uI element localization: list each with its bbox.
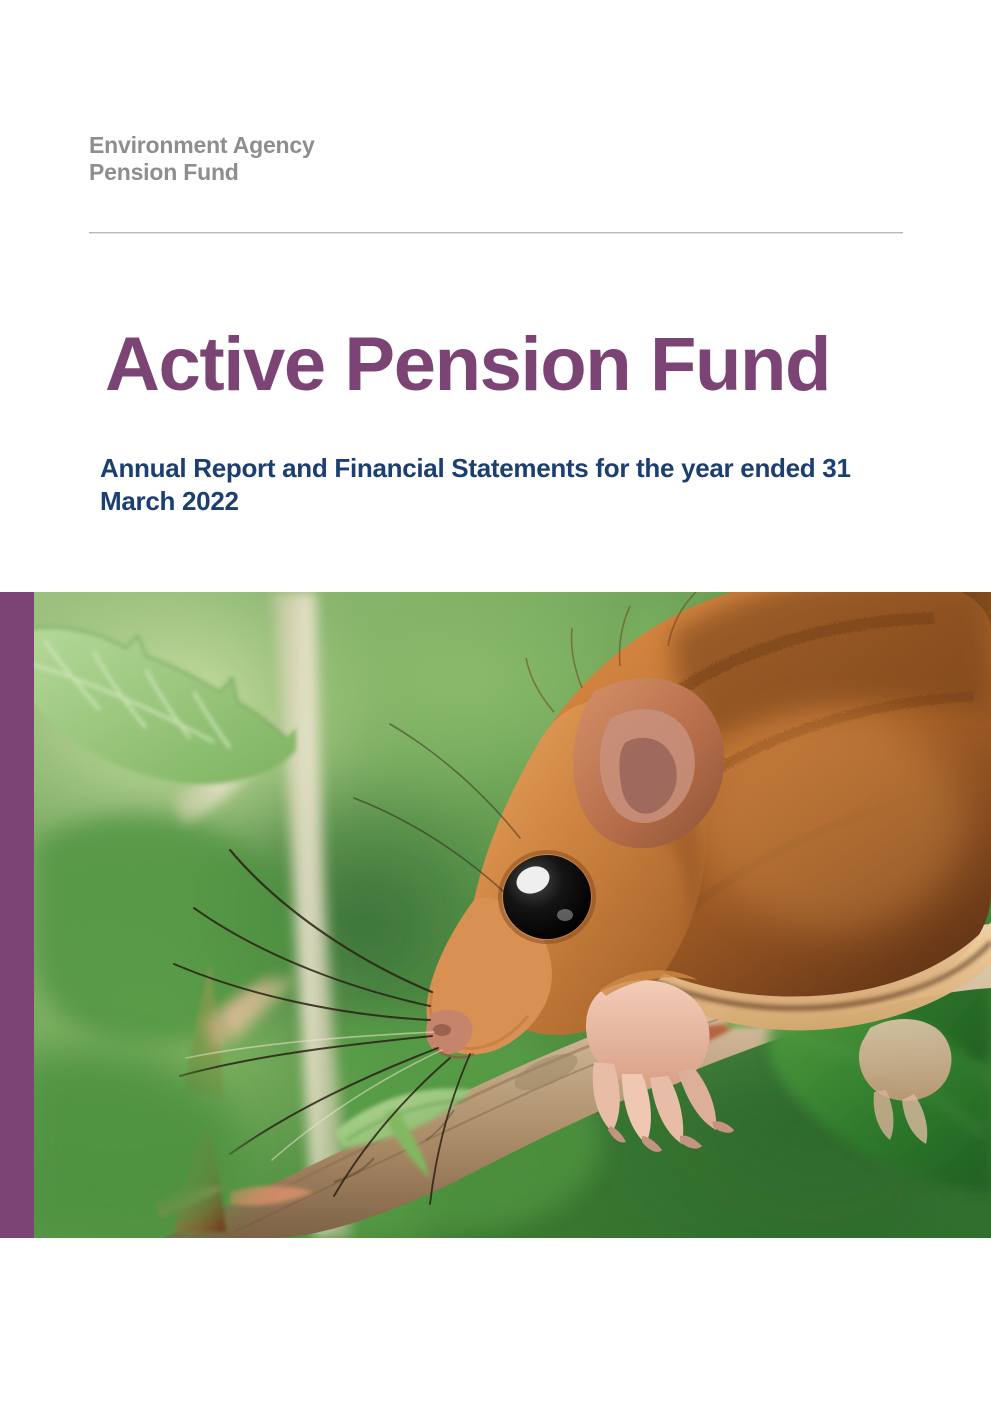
- cover-image-band: [0, 592, 991, 1238]
- cover-page: Environment Agency Pension Fund Active P…: [0, 0, 991, 1401]
- page-subtitle: Annual Report and Financial Statements f…: [100, 452, 890, 518]
- organisation-name-line-2: Pension Fund: [89, 159, 569, 186]
- page-title: Active Pension Fund: [105, 322, 830, 408]
- organisation-logo: Environment Agency Pension Fund: [89, 132, 569, 186]
- header-divider: [89, 232, 903, 234]
- dormouse-photo-illustration: [34, 592, 991, 1238]
- brand-accent-bar: [0, 592, 34, 1238]
- organisation-name-line-1: Environment Agency: [89, 132, 569, 159]
- cover-photograph: [34, 592, 991, 1238]
